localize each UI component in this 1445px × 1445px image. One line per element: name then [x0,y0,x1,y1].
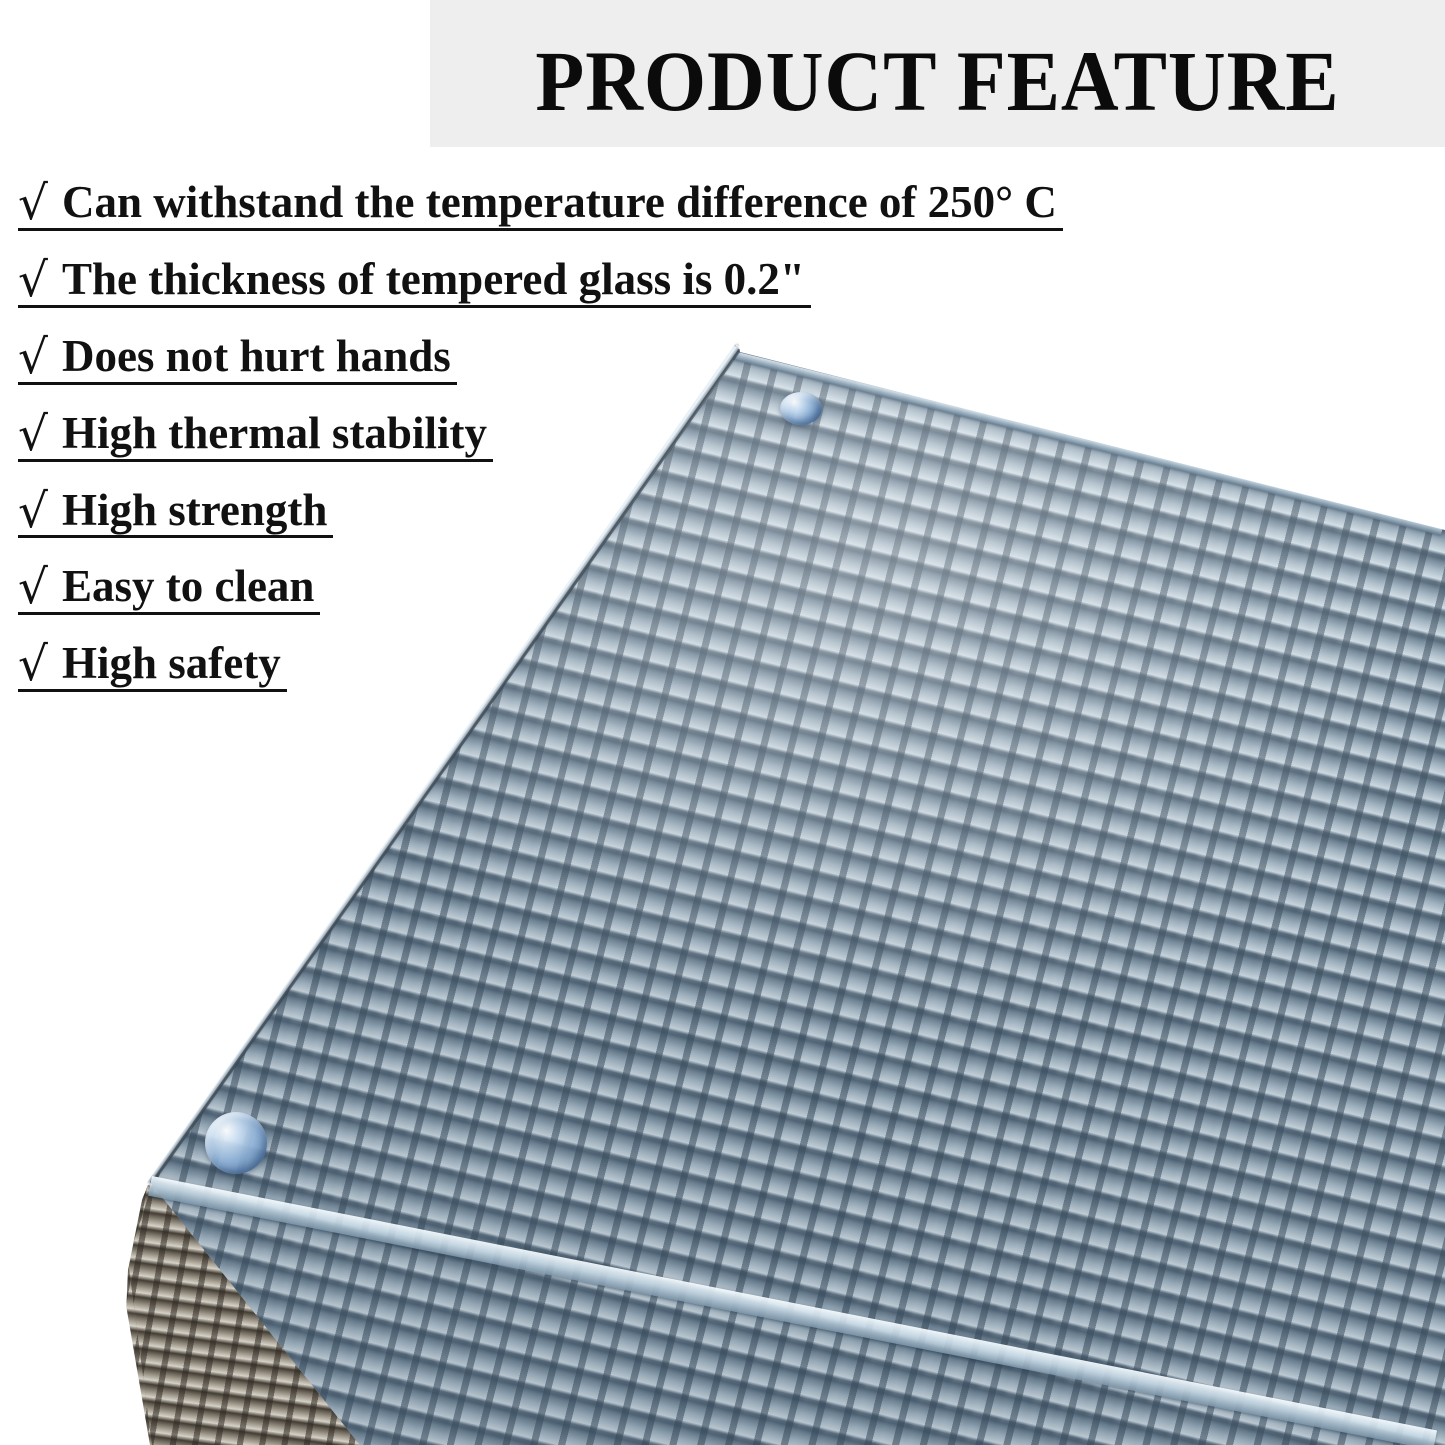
glass-slab-thickness-left [148,1176,1437,1445]
feature-label: Does not hurt hands [62,334,451,380]
list-item: √ Easy to clean [18,562,320,615]
list-spacer [18,231,1318,255]
feature-label: High strength [62,488,327,534]
check-icon: √ [18,641,48,688]
feature-label: High thermal stability [62,411,487,457]
feature-label: The thickness of tempered glass is 0.2" [62,257,805,303]
product-feature-page: PRODUCT FEATURE √ Can withstand the temp… [0,0,1445,1445]
feature-label: Can withstand the temperature difference… [62,180,1057,226]
glass-bumper-left-corner [205,1112,267,1174]
photo-white-mask-bottom-left [0,1150,330,1445]
check-icon: √ [18,411,48,458]
list-item: √ Does not hurt hands [18,332,457,385]
page-title: PRODUCT FEATURE [466,0,1410,147]
list-item: √ The thickness of tempered glass is 0.2… [18,255,811,308]
list-item: √ High strength [18,486,333,539]
feature-label: Easy to clean [62,564,315,610]
feature-label: High safety [62,641,281,687]
list-spacer [18,615,1318,639]
list-item: √ High thermal stability [18,409,493,462]
list-item: √ High safety [18,639,287,692]
table-side-skirt [0,1100,1445,1445]
check-icon: √ [18,180,48,227]
list-spacer [18,538,1318,562]
check-icon: √ [18,564,48,611]
check-icon: √ [18,488,48,535]
list-spacer [18,462,1318,486]
list-spacer [18,385,1318,409]
check-icon: √ [18,257,48,304]
list-spacer [18,308,1318,332]
list-item: √ Can withstand the temperature differen… [18,178,1063,231]
check-icon: √ [18,334,48,381]
feature-list: √ Can withstand the temperature differen… [18,178,1318,692]
